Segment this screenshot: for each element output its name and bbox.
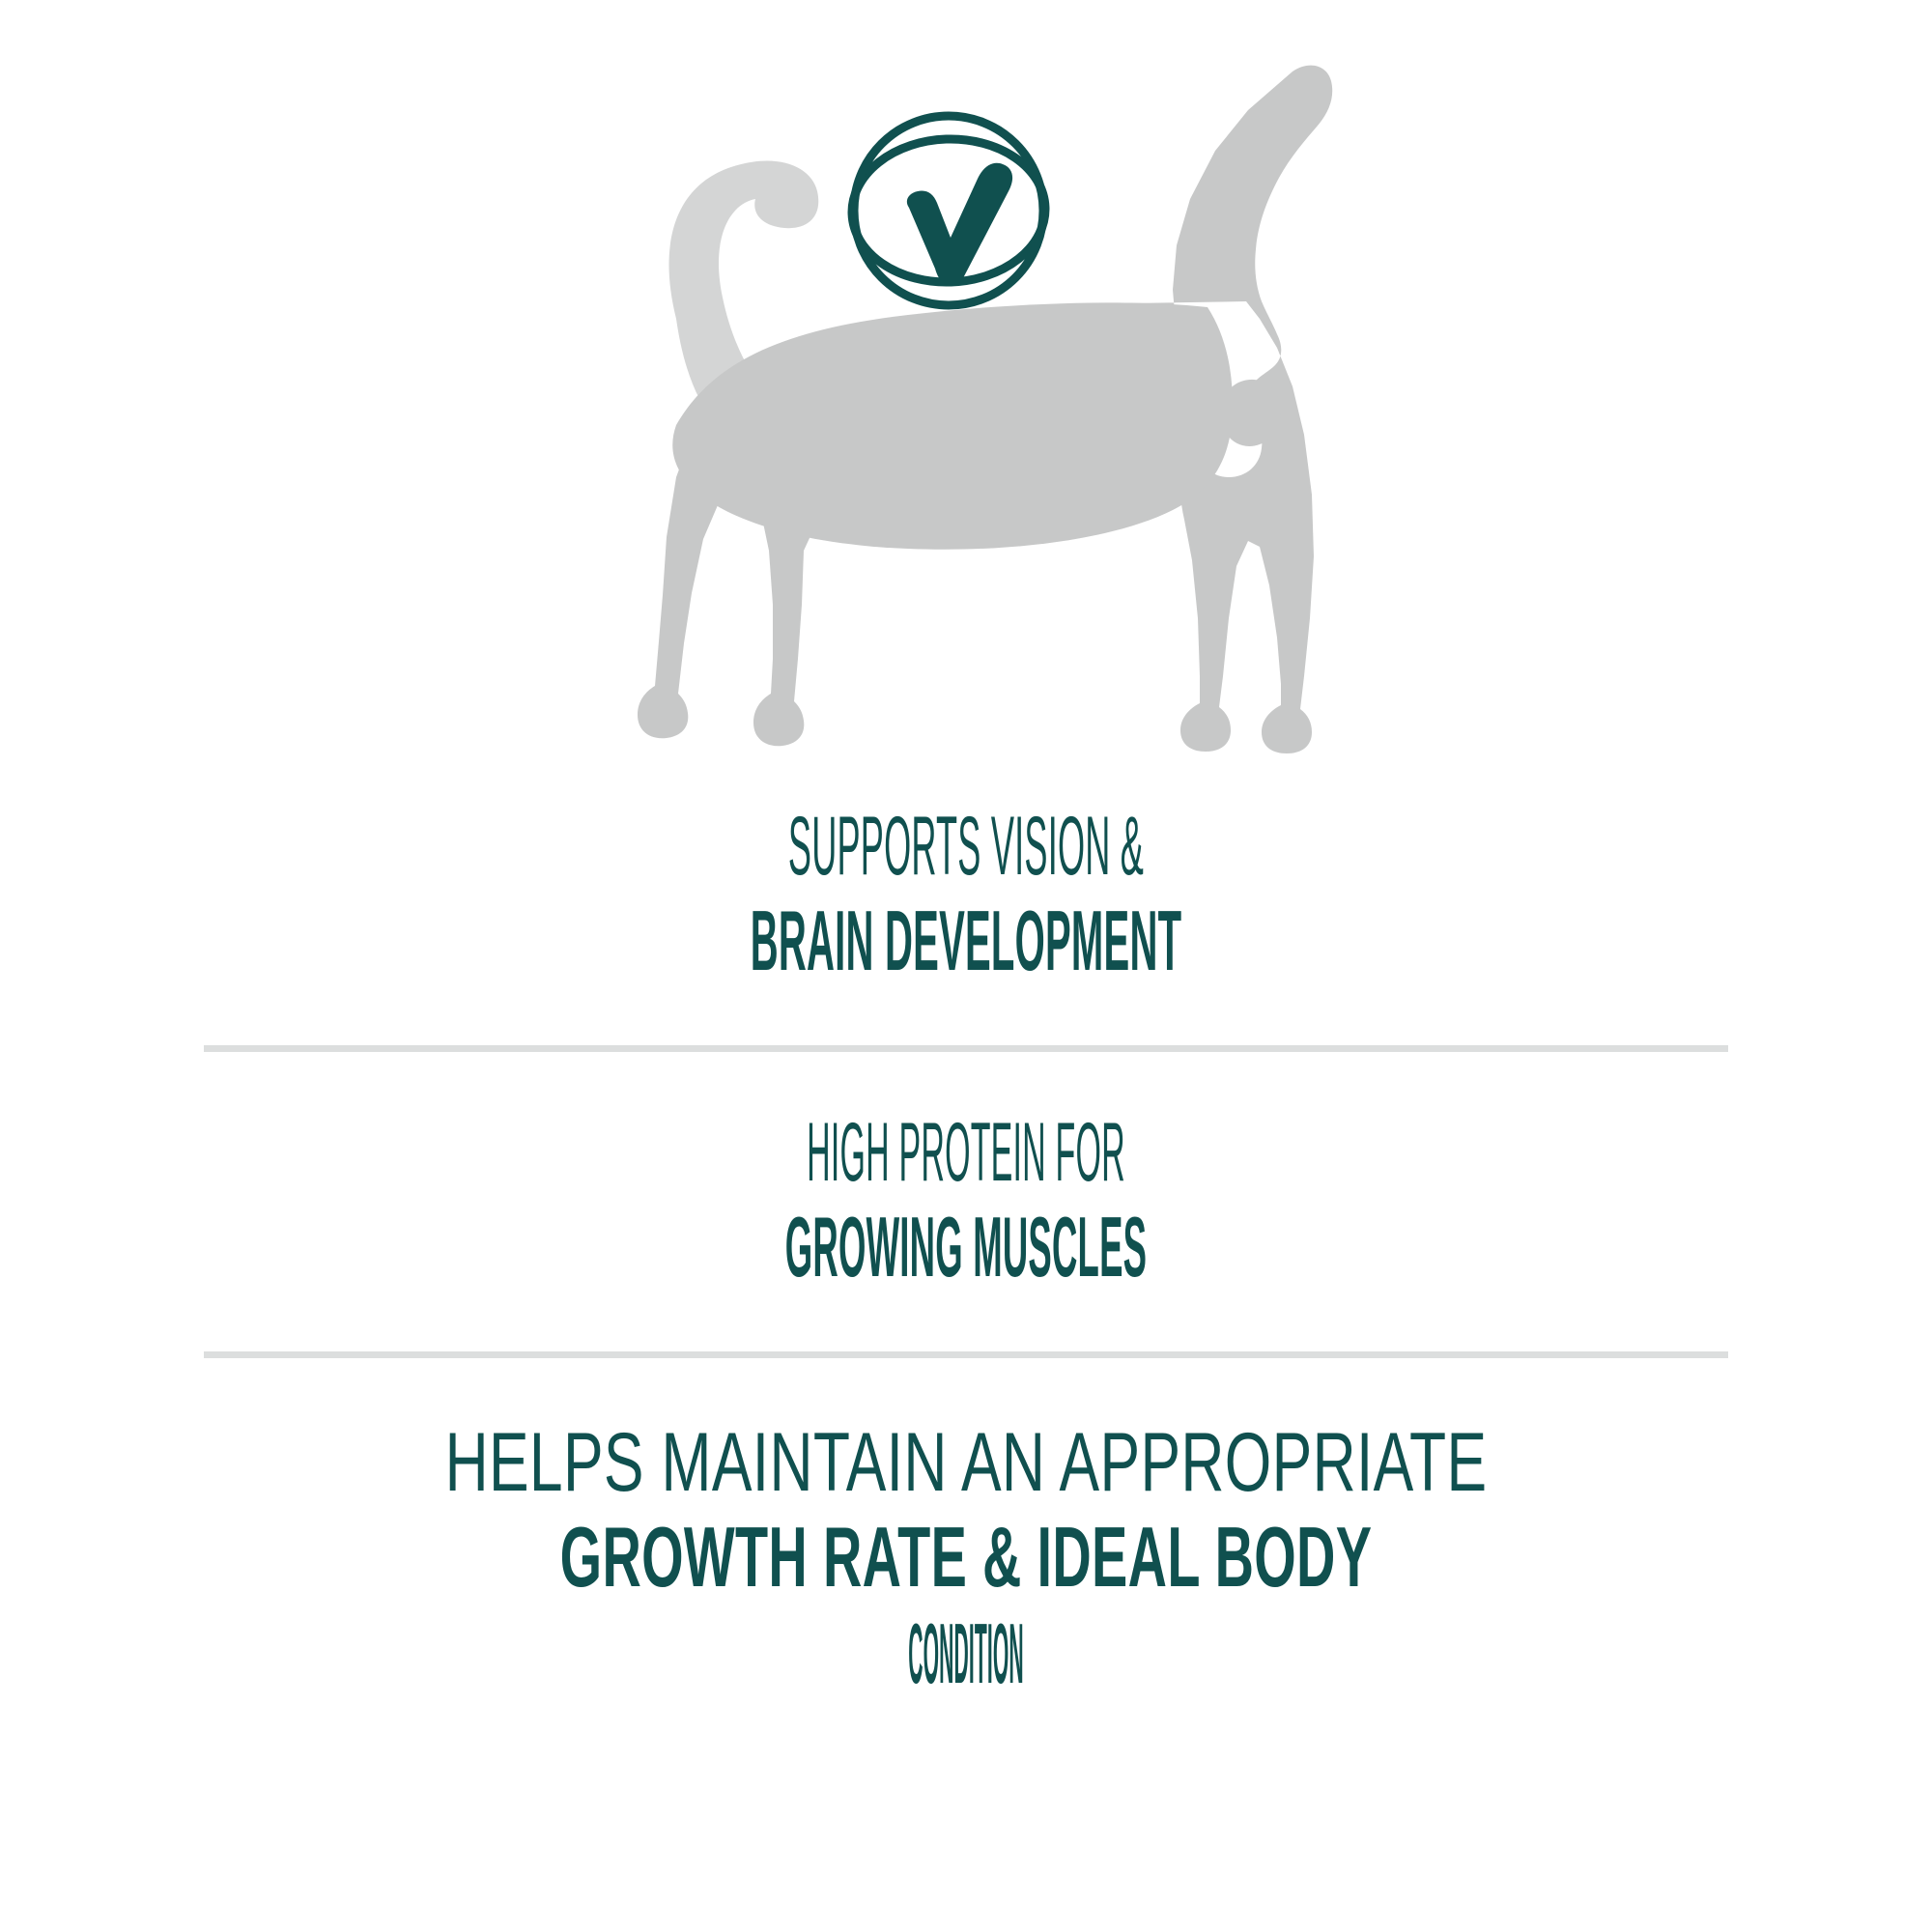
benefits-infographic: SUPPORTS VISION & BRAIN DEVELOPMENT HIGH… bbox=[0, 0, 1932, 1932]
benefit-item-high-protein: HIGH PROTEIN FOR GROWING MUSCLES bbox=[0, 1052, 1932, 1295]
benefit-line-bold: GROWING MUSCLES bbox=[565, 1199, 1367, 1295]
benefit-line-bold-2: CONDITION bbox=[734, 1605, 1198, 1702]
divider-2 bbox=[204, 1351, 1728, 1358]
benefit-line-bold-1: GROWTH RATE & IDEAL BODY bbox=[353, 1509, 1579, 1605]
benefit-line-light: SUPPORTS VISION & bbox=[560, 800, 1372, 893]
benefit-line-light: HIGH PROTEIN FOR bbox=[584, 1106, 1348, 1199]
benefit-line-light: HELPS MAINTAIN AN APPROPRIATE bbox=[266, 1416, 1666, 1509]
check-circle-icon bbox=[849, 116, 1047, 305]
dog-silhouette-with-checkmark bbox=[0, 0, 1932, 763]
benefit-item-growth-rate: HELPS MAINTAIN AN APPROPRIATE GROWTH RAT… bbox=[0, 1358, 1932, 1702]
divider-1 bbox=[204, 1045, 1728, 1052]
benefit-line-bold: BRAIN DEVELOPMENT bbox=[526, 893, 1406, 989]
benefit-list: SUPPORTS VISION & BRAIN DEVELOPMENT HIGH… bbox=[0, 763, 1932, 1702]
benefit-item-vision-brain: SUPPORTS VISION & BRAIN DEVELOPMENT bbox=[0, 763, 1932, 989]
